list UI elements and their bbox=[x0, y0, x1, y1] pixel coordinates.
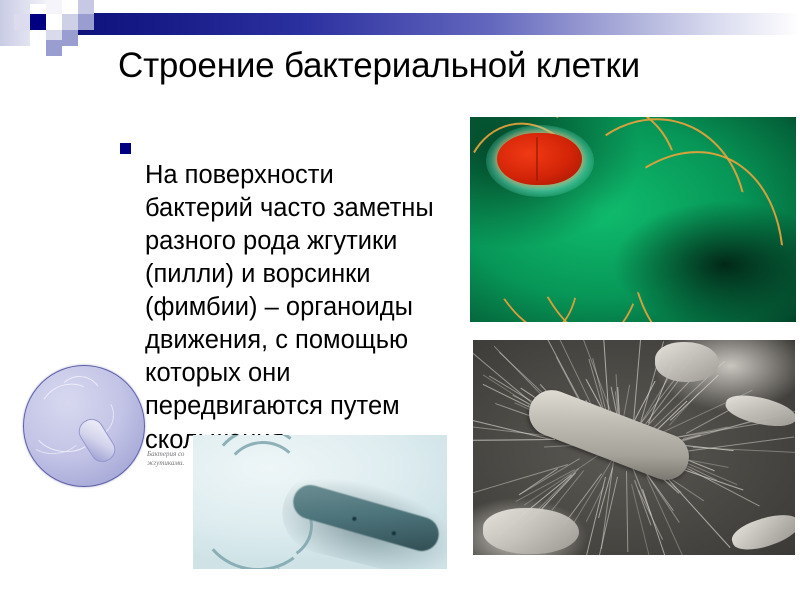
pilus-stroke bbox=[634, 480, 651, 525]
decoration-square bbox=[30, 14, 46, 30]
pilus-stroke bbox=[679, 464, 759, 507]
pilus-stroke bbox=[642, 489, 680, 555]
teal-flagella-micrograph-image bbox=[193, 435, 447, 569]
bullet-square-icon bbox=[120, 143, 131, 154]
header-decoration bbox=[0, 0, 800, 46]
decoration-square bbox=[14, 14, 30, 30]
debris-blob bbox=[728, 508, 795, 555]
bullet-item-text: На поверхности бактерий часто заметны ра… bbox=[145, 159, 445, 457]
header-gradient-bar bbox=[62, 13, 800, 35]
slide-canvas: Строение бактериальной клетки На поверхн… bbox=[0, 0, 800, 600]
decoration-square bbox=[30, 30, 46, 46]
pilus-stroke bbox=[633, 340, 643, 422]
debris-blob bbox=[483, 508, 579, 554]
decoration-square bbox=[46, 40, 62, 56]
electron-micrograph-image bbox=[473, 340, 795, 555]
debris-blob bbox=[655, 342, 719, 382]
pilus-stroke bbox=[646, 476, 697, 555]
circular-illustration-image bbox=[23, 365, 145, 487]
pilus-stroke bbox=[693, 447, 795, 453]
pilus-stroke bbox=[626, 471, 628, 552]
bacterial-cell-body bbox=[497, 133, 582, 185]
pilus-stroke bbox=[516, 470, 575, 503]
fluorescence-micrograph-image bbox=[470, 117, 796, 322]
page-title: Строение бактериальной клетки bbox=[118, 46, 678, 87]
figure-caption: Бактерия со жгутиками. bbox=[147, 450, 209, 469]
pilus-stroke bbox=[473, 439, 555, 441]
decoration-square bbox=[62, 14, 78, 30]
decoration-square bbox=[78, 14, 94, 30]
bacterial-cell-body bbox=[522, 383, 695, 486]
bullet-list: На поверхности бактерий часто заметны ра… bbox=[120, 133, 460, 482]
decoration-square bbox=[46, 14, 62, 30]
decoration-square bbox=[62, 30, 78, 46]
